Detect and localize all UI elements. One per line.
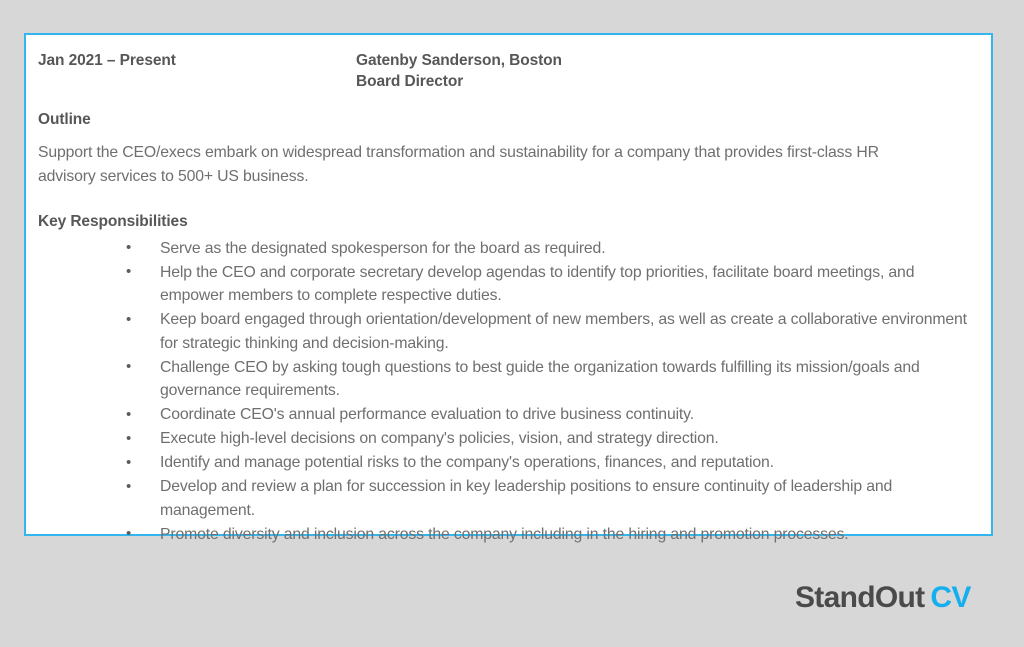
employment-dates: Jan 2021 – Present (38, 50, 356, 71)
key-responsibilities-heading: Key Responsibilities (38, 212, 975, 232)
responsibility-text: Challenge CEO by asking tough questions … (160, 359, 920, 400)
employer-and-title: Gatenby Sanderson, Boston Board Director (356, 50, 975, 92)
cv-experience-card: Jan 2021 – Present Gatenby Sanderson, Bo… (24, 33, 993, 536)
bullet-icon: • (126, 451, 131, 475)
responsibility-item: •Execute high-level decisions on company… (38, 427, 975, 451)
experience-entry-header: Jan 2021 – Present Gatenby Sanderson, Bo… (38, 47, 975, 92)
responsibility-text: Promote diversity and inclusion across t… (160, 526, 848, 543)
responsibility-item: •Challenge CEO by asking tough questions… (38, 355, 975, 403)
responsibility-text: Develop and review a plan for succession… (160, 478, 892, 519)
responsibility-item: •Coordinate CEO's annual performance eva… (38, 403, 975, 427)
employer-name: Gatenby Sanderson, Boston (356, 50, 975, 71)
job-title: Board Director (356, 71, 975, 92)
page-root: Jan 2021 – Present Gatenby Sanderson, Bo… (0, 0, 1024, 647)
bullet-icon: • (126, 236, 131, 260)
responsibility-item: •Keep board engaged through orientation/… (38, 308, 975, 356)
responsibility-text: Execute high-level decisions on company'… (160, 430, 719, 447)
logo-wordmark-primary: StandOut (795, 581, 924, 614)
responsibility-item: •Promote diversity and inclusion across … (38, 522, 975, 546)
logo-wordmark-accent: CV (930, 581, 970, 614)
responsibility-text: Identify and manage potential risks to t… (160, 454, 774, 471)
responsibility-text: Serve as the designated spokesperson for… (160, 240, 605, 257)
outline-paragraph: Support the CEO/execs embark on widespre… (38, 141, 933, 188)
bullet-icon: • (126, 403, 131, 427)
responsibility-item: •Identify and manage potential risks to … (38, 451, 975, 475)
bullet-icon: • (126, 260, 131, 284)
bullet-icon: • (126, 475, 131, 499)
bullet-icon: • (126, 522, 131, 546)
bullet-icon: • (126, 427, 131, 451)
responsibility-text: Coordinate CEO's annual performance eval… (160, 406, 694, 423)
bullet-icon: • (126, 355, 131, 379)
standoutcv-logo: StandOutCV (795, 581, 971, 615)
responsibility-text: Keep board engaged through orientation/d… (160, 311, 967, 352)
responsibility-item: •Serve as the designated spokesperson fo… (38, 236, 975, 260)
responsibility-item: •Develop and review a plan for successio… (38, 475, 975, 523)
key-responsibilities-list: •Serve as the designated spokesperson fo… (38, 236, 975, 546)
responsibility-text: Help the CEO and corporate secretary dev… (160, 264, 914, 305)
outline-heading: Outline (38, 110, 975, 130)
bullet-icon: • (126, 308, 131, 332)
responsibility-item: •Help the CEO and corporate secretary de… (38, 260, 975, 308)
